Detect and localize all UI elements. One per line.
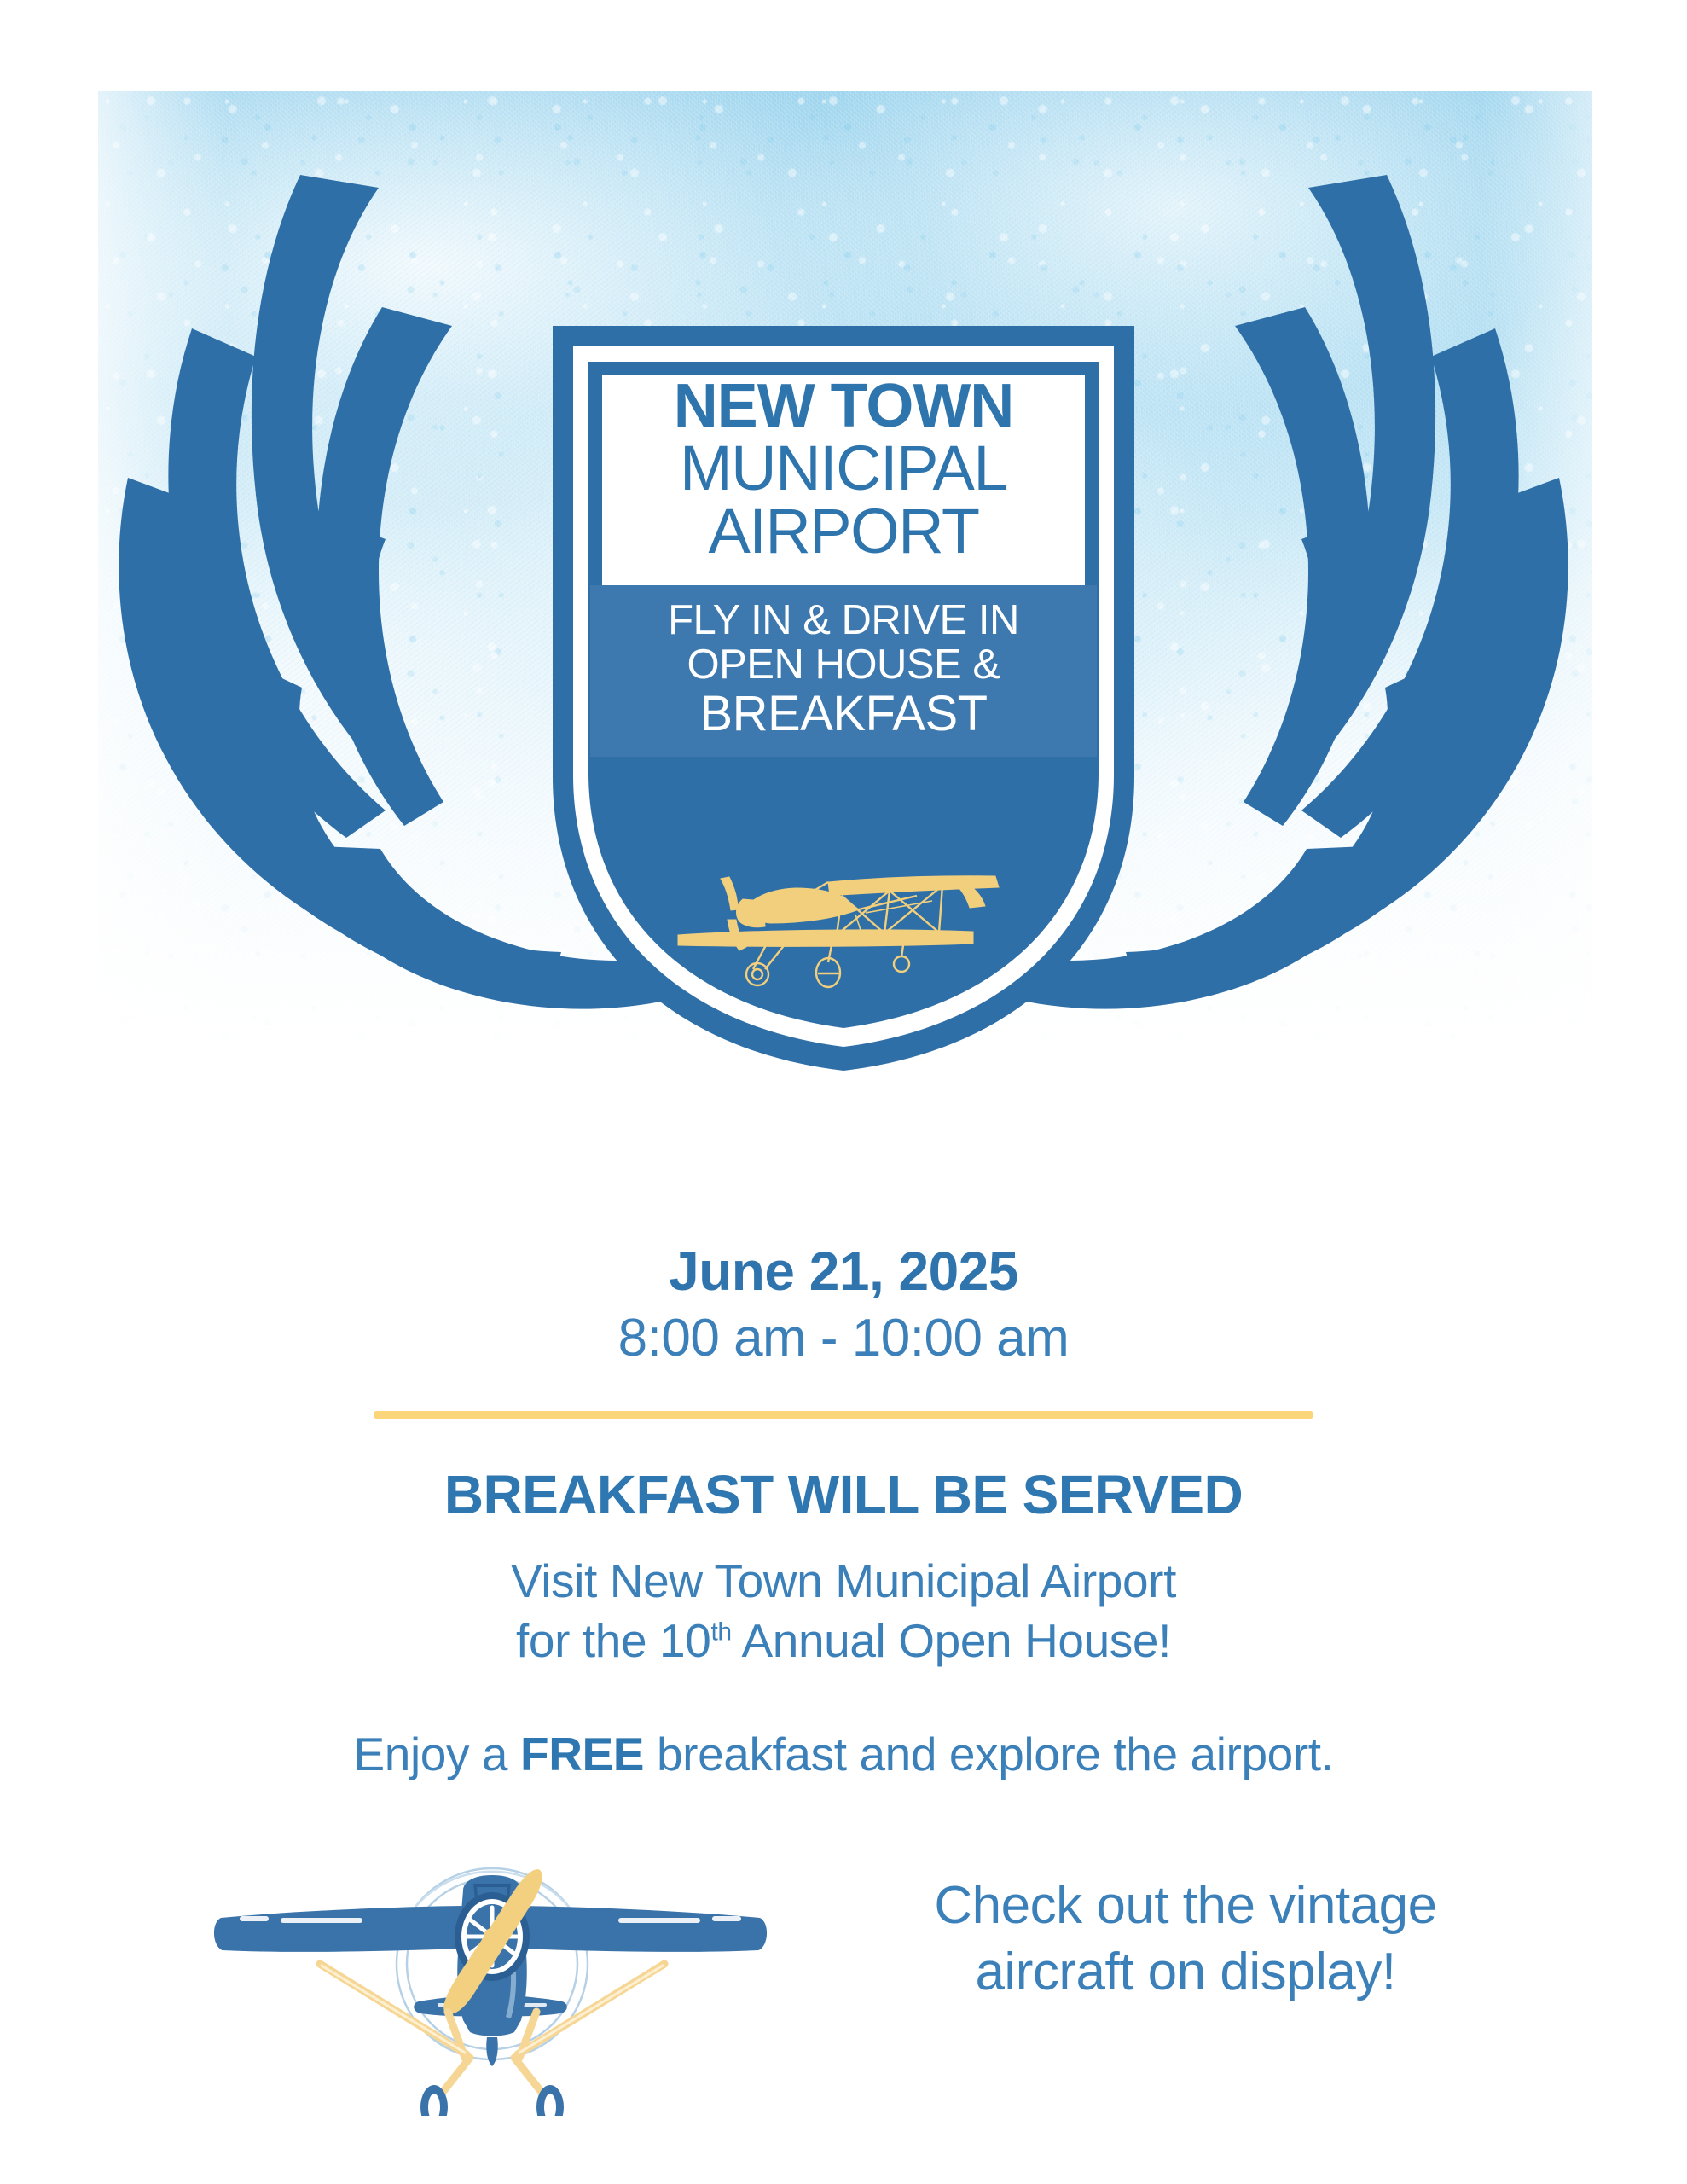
poster-page: NEW TOWN MUNICIPAL AIRPORT FLY IN & DRIV…	[0, 0, 1687, 2184]
visit-line2-prefix: for the 10	[516, 1614, 710, 1667]
vintage-line1: Check out the vintage	[836, 1873, 1535, 1939]
shield-title-panel	[602, 375, 1085, 582]
event-time: 8:00 am - 10:00 am	[0, 1306, 1687, 1371]
vintage-line2: aircraft on display!	[836, 1939, 1535, 2006]
event-details: June 21, 2025 8:00 am - 10:00 am BREAKFA…	[0, 1241, 1687, 1781]
ordinal-suffix: th	[710, 1618, 731, 1646]
free-emphasis: FREE	[520, 1728, 644, 1780]
visit-line1: Visit New Town Municipal Airport	[511, 1554, 1176, 1607]
event-date: June 21, 2025	[0, 1241, 1687, 1303]
free-suffix: breakfast and explore the airport.	[644, 1728, 1333, 1780]
gold-divider	[374, 1411, 1313, 1419]
visit-paragraph: Visit New Town Municipal Airport for the…	[0, 1552, 1687, 1670]
free-breakfast-paragraph: Enjoy a FREE breakfast and explore the a…	[0, 1727, 1687, 1781]
breakfast-headline: BREAKFAST WILL BE SERVED	[0, 1463, 1687, 1526]
visit-line2-suffix: Annual Open House!	[732, 1614, 1171, 1667]
vintage-aircraft-text: Check out the vintage aircraft on displa…	[836, 1873, 1535, 2006]
shield-panel-gap	[602, 582, 1085, 594]
free-prefix: Enjoy a	[353, 1728, 520, 1780]
bottom-row: Check out the vintage aircraft on displa…	[0, 1826, 1687, 2150]
winged-crest-icon	[0, 128, 1687, 1083]
front-view-airplane-icon	[192, 1834, 789, 2116]
